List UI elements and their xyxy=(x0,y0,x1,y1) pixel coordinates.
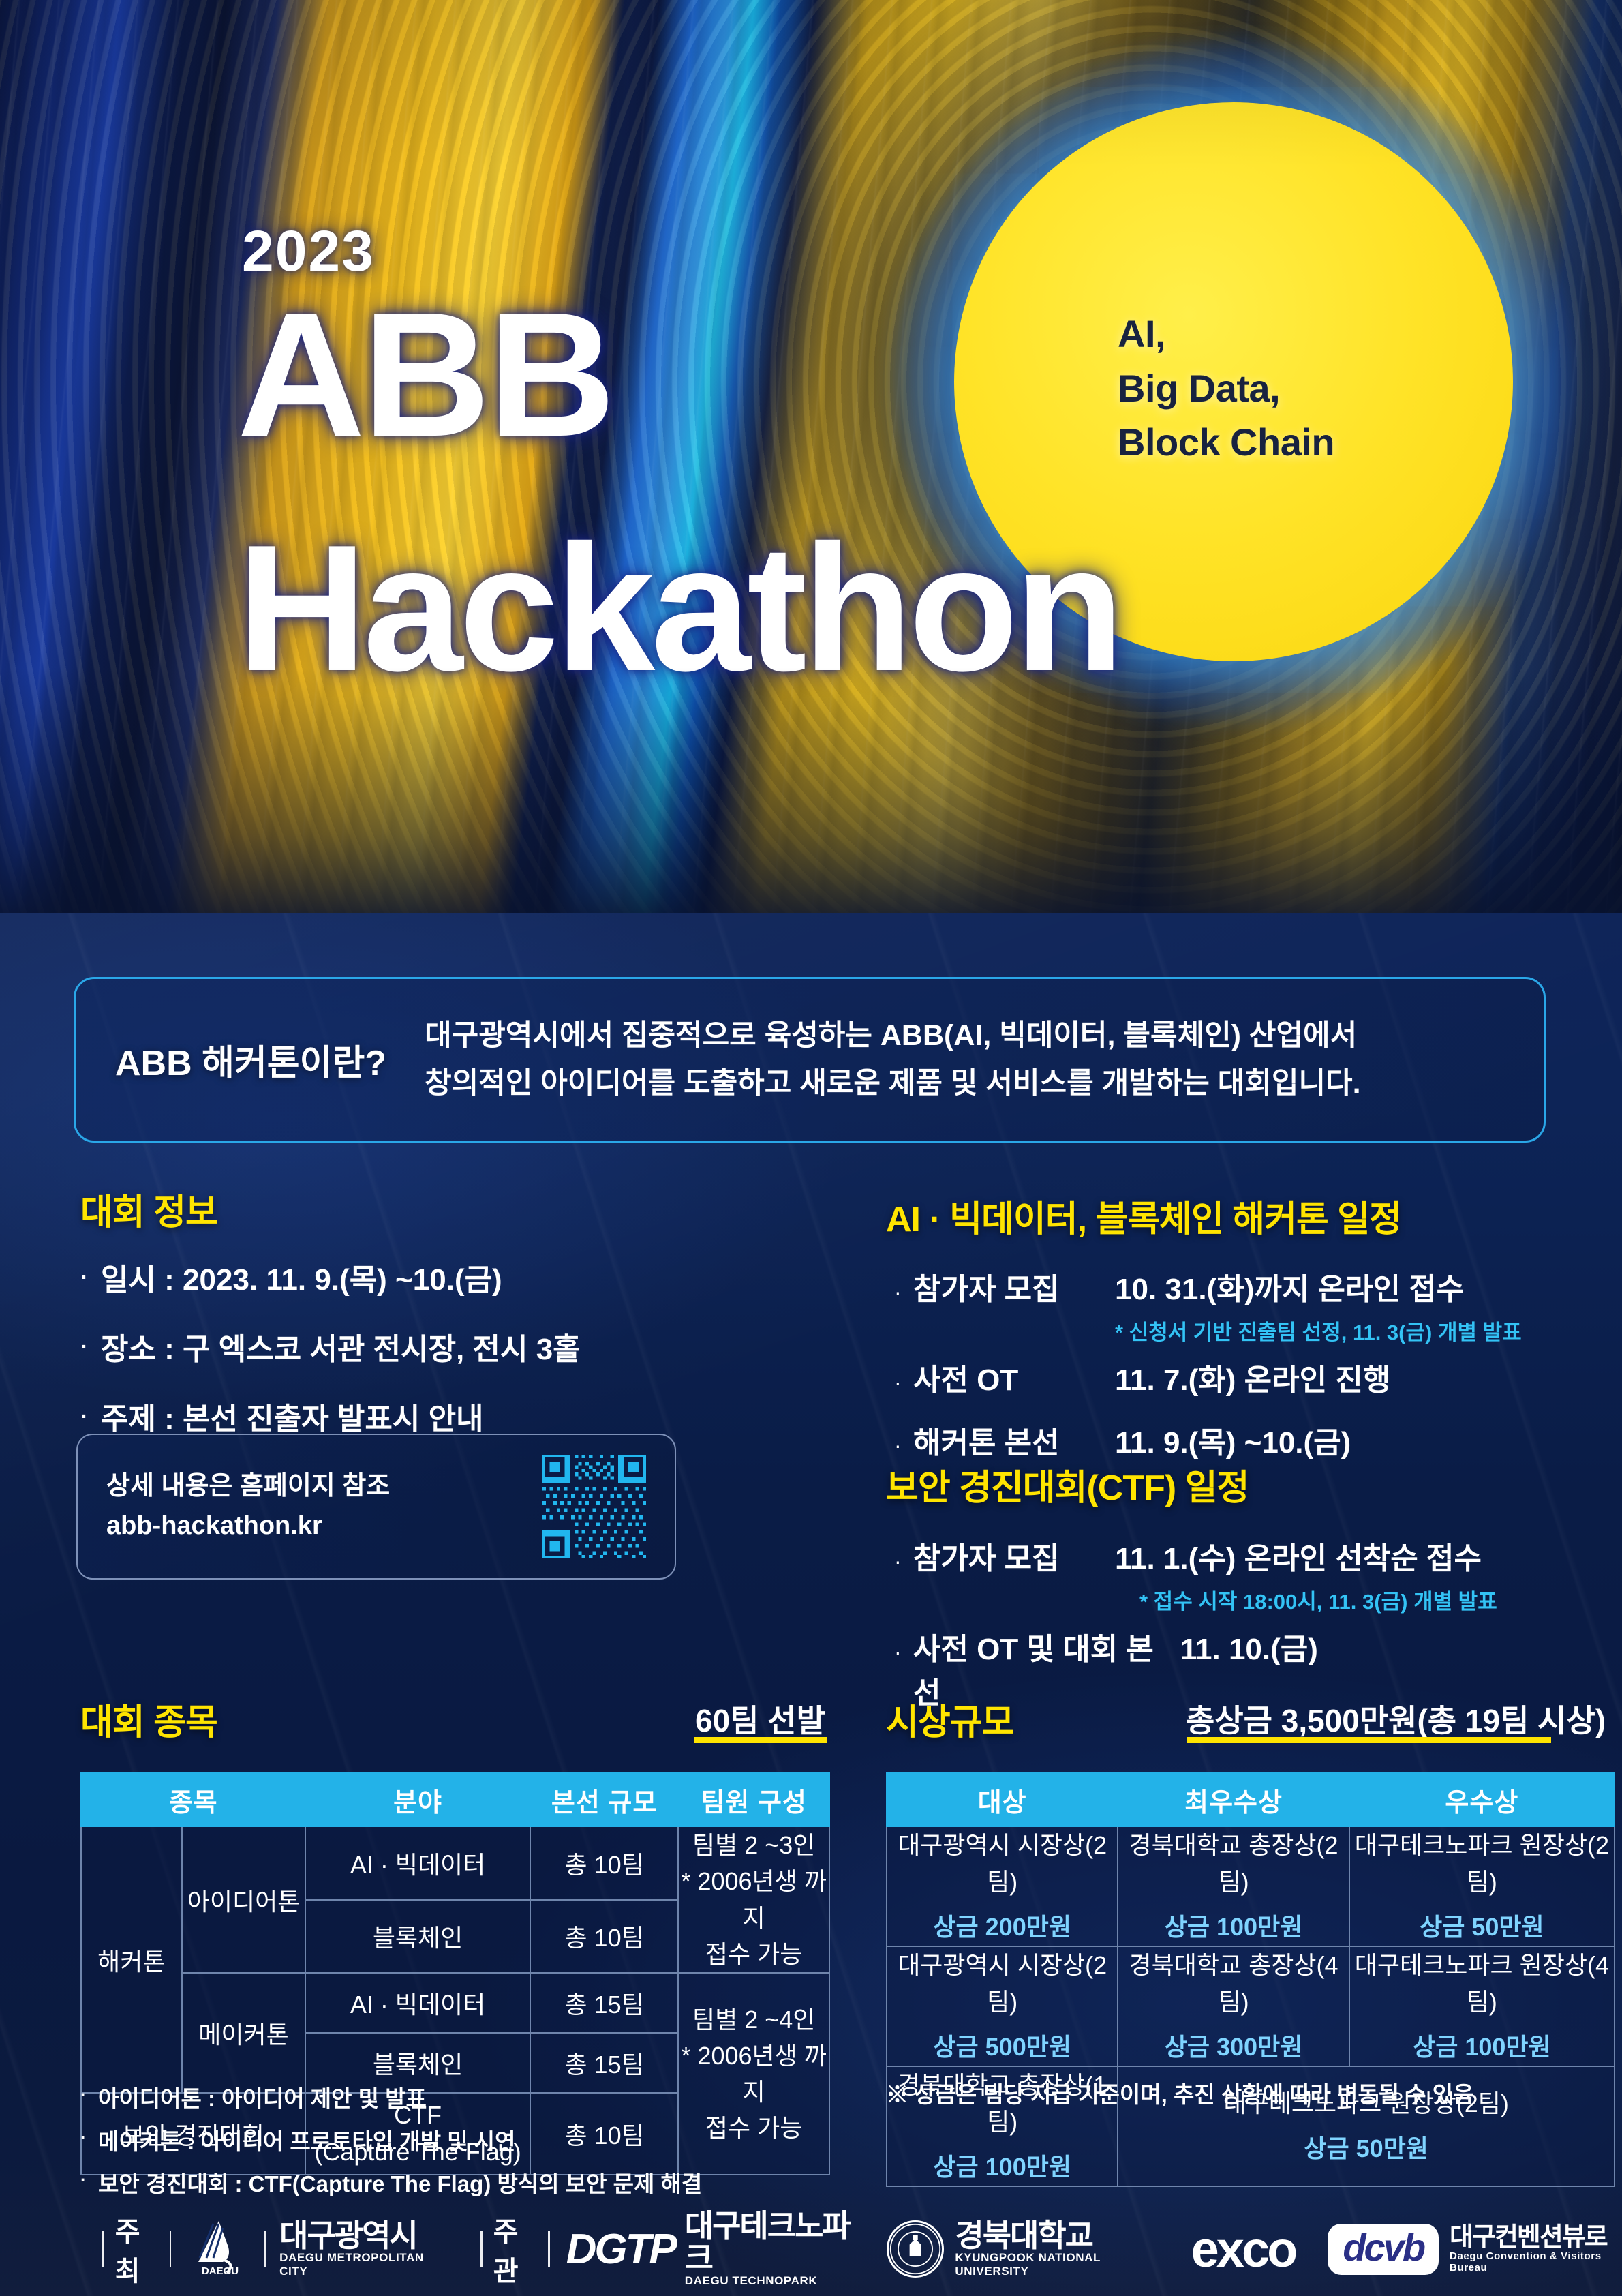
divider xyxy=(548,2231,550,2267)
awards-th-best: 최우수상 xyxy=(1118,1773,1349,1826)
events-cell-scale-3: 총 15팀 xyxy=(530,1973,679,2033)
bullet-dot-icon: · xyxy=(894,1433,913,1458)
bullet-dot-icon: · xyxy=(894,1370,913,1395)
schedule-label-recruit: 참가자 모집 xyxy=(913,1265,1115,1308)
table-header-row: 종목 분야 본선 규모 팀원 구성 xyxy=(81,1773,829,1826)
schedule-value-recruit: 10. 31.(화)까지 온라인 접수 xyxy=(1115,1265,1464,1308)
daegu-city-logo: 대구광역시 DAEGU METROPOLITAN CITY xyxy=(279,2220,437,2279)
table-row: 대구광역시 시장상(2팀) 상금 500만원 경북대학교 총장상(4팀) 상금 … xyxy=(887,1946,1615,2066)
schedule-label-final: 해커톤 본선 xyxy=(913,1418,1115,1462)
list-item: · 메이커톤 : 아이디어 프로토타입 개발 및 시연 xyxy=(80,2121,702,2164)
ctf-value-final: 11. 10.(금) xyxy=(1180,1625,1318,1668)
section-title-events: 대회 종목 xyxy=(80,1693,217,1744)
awards-table: 대상 최우수상 우수상 대구광역시 시장상(2팀) 상금 200만원 경북대학교… xyxy=(886,1772,1615,2187)
footer-organizer-tag: 주관 xyxy=(483,2209,548,2289)
award-prize: 상금 500만원 xyxy=(887,2029,1117,2066)
events-th-category: 종목 xyxy=(81,1773,305,1826)
awards-cell-r2c2: 경북대학교 총장상(4팀) 상금 300만원 xyxy=(1118,1946,1349,2066)
knu-logo: 경북대학교 KYUNGPOOK NATIONAL UNIVERSITY xyxy=(955,2220,1154,2279)
events-cell-sub-ideathon: 아이디어톤 xyxy=(182,1826,306,1973)
events-cell-field-ai-1: AI · 빅데이터 xyxy=(305,1826,530,1900)
bullet-dot-icon: · xyxy=(80,1327,101,1368)
dgtp-logo-mark: DGTP xyxy=(566,2225,675,2274)
awards-cell-r2c1: 대구광역시 시장상(2팀) 상금 500만원 xyxy=(887,1946,1118,2066)
ctf-value-recruit: 11. 1.(수) 온라인 선착순 접수 xyxy=(1115,1534,1482,1577)
list-item: · 일시 : 2023. 11. 9.(목) ~10.(금) xyxy=(80,1258,796,1303)
awards-note: ※ 상금은 팀당 지급 기준이며, 추진 상황에 따라 변동될 수 있음 xyxy=(886,2076,1474,2109)
events-th-team: 팀원 구성 xyxy=(678,1773,829,1826)
section-title-ctf-schedule: 보안 경진대회(CTF) 일정 xyxy=(886,1459,1249,1510)
svg-text:DAEGU: DAEGU xyxy=(202,2265,239,2277)
ctf-note-recruit: * 접수 시작 18:00시, 11. 3(금) 개별 발표 xyxy=(1139,1584,1610,1615)
intro-title: ABB 해커톤이란? xyxy=(115,1034,386,1085)
events-badge: 60팀 선발 xyxy=(695,1696,825,1741)
award-prize: 상금 50만원 xyxy=(1350,1909,1614,1946)
events-th-scale: 본선 규모 xyxy=(530,1773,679,1826)
schedule-row: · 해커톤 본선 11. 9.(목) ~10.(금) xyxy=(894,1418,1610,1462)
awards-th-grand: 대상 xyxy=(887,1773,1118,1826)
table-header-row: 대상 최우수상 우수상 xyxy=(887,1773,1615,1826)
team-a-line3: 접수 가능 xyxy=(679,1936,829,1972)
divider xyxy=(480,2231,483,2267)
dcvb-logo-mark: dcvb xyxy=(1328,2224,1439,2275)
dcvb-name-en: Daegu Convention & Visitors Bureau xyxy=(1450,2250,1622,2274)
schedule-value-final: 11. 9.(목) ~10.(금) xyxy=(1115,1418,1351,1462)
section-title-info: 대회 정보 xyxy=(80,1183,217,1235)
intro-desc-line1: 대구광역시에서 집중적으로 육성하는 ABB(AI, 빅데이터, 블록체인) 산… xyxy=(425,1012,1360,1060)
team-b-line1: 팀별 2 ~4인 xyxy=(679,2002,829,2038)
divider xyxy=(264,2231,266,2267)
ctf-label-recruit: 참가자 모집 xyxy=(913,1534,1115,1577)
events-cell-field-bc-1: 블록체인 xyxy=(305,1900,530,1974)
table-row: 해커톤 아이디어톤 AI · 빅데이터 총 10팀 팀별 2 ~3인 * 200… xyxy=(81,1826,829,1900)
awards-cell-r1c3: 대구테크노파크 원장상(2팀) 상금 50만원 xyxy=(1349,1826,1615,1946)
homepage-text: 상세 내용은 홈페이지 참조 abb-hackathon.kr xyxy=(106,1467,390,1546)
schedule-note-recruit: * 신청서 기반 진출팀 선정, 11. 3(금) 개별 발표 xyxy=(1115,1315,1610,1346)
award-prize: 상금 100만원 xyxy=(1350,2029,1614,2066)
events-cell-field-ai-2: AI · 빅데이터 xyxy=(305,1973,530,2033)
section-title-awards: 시상규모 xyxy=(886,1693,1013,1744)
dgtp-name-en: DAEGU TECHNOPARK xyxy=(685,2274,857,2288)
knu-name-kr: 경북대학교 xyxy=(955,2220,1154,2252)
exco-logo: exco xyxy=(1191,2220,1296,2278)
events-cell-group-hackathon: 해커톤 xyxy=(81,1826,182,2093)
daegu-city-name-en: DAEGU METROPOLITAN CITY xyxy=(279,2251,437,2278)
homepage-ref-line: 상세 내용은 홈페이지 참조 xyxy=(106,1467,390,1507)
intro-box: ABB 해커톤이란? 대구광역시에서 집중적으로 육성하는 ABB(AI, 빅데… xyxy=(74,977,1546,1143)
awards-cell-r1c2: 경북대학교 총장상(2팀) 상금 100만원 xyxy=(1118,1826,1349,1946)
homepage-qr-box[interactable]: 상세 내용은 홈페이지 참조 abb-hackathon.kr xyxy=(76,1434,676,1580)
award-prize: 상금 100만원 xyxy=(887,2149,1117,2186)
table-row: 메이커톤 AI · 빅데이터 총 15팀 팀별 2 ~4인 * 2006년생 까… xyxy=(81,1973,829,2033)
info-item-date: 일시 : 2023. 11. 9.(목) ~10.(금) xyxy=(101,1258,502,1303)
bullet-dot-icon: · xyxy=(80,1397,101,1438)
bullet-dot-icon: · xyxy=(894,1549,913,1574)
list-item: · 보안 경진대회 : CTF(Capture The Flag) 방식의 보안… xyxy=(80,2163,702,2206)
awards-cell-r2c3: 대구테크노파크 원장상(4팀) 상금 100만원 xyxy=(1349,1946,1615,2066)
events-cell-scale-2: 총 10팀 xyxy=(530,1900,679,1974)
awards-badge-underline xyxy=(1187,1737,1551,1743)
award-prize: 상금 100만원 xyxy=(1118,1909,1348,1946)
daegu-city-mark-icon: DAEGU xyxy=(189,2220,251,2278)
awards-th-excellent: 우수상 xyxy=(1349,1773,1615,1826)
list-item: · 장소 : 구 엑스코 서관 전시장, 전시 3홀 xyxy=(80,1327,796,1372)
events-cell-scale-1: 총 10팀 xyxy=(530,1826,679,1900)
award-title: 경북대학교 총장상(2팀) xyxy=(1118,1827,1348,1901)
events-cell-team-a: 팀별 2 ~3인 * 2006년생 까지 접수 가능 xyxy=(678,1826,829,1973)
bullet-dot-icon: · xyxy=(894,1280,913,1305)
footer-host-tag: 주최 xyxy=(104,2209,170,2289)
award-prize: 상금 200만원 xyxy=(887,1909,1117,1946)
definition-security: 보안 경진대회 : CTF(Capture The Flag) 방식의 보안 문… xyxy=(98,2163,702,2206)
award-title: 경북대학교 총장상(4팀) xyxy=(1118,1947,1348,2021)
schedule-row: · 참가자 모집 11. 1.(수) 온라인 선착순 접수 xyxy=(894,1534,1610,1577)
awards-cell-r1c1: 대구광역시 시장상(2팀) 상금 200만원 xyxy=(887,1826,1118,1946)
hero-banner: AI, Big Data, Block Chain 2023 ABB Hacka… xyxy=(0,0,1622,927)
ctf-schedule-list: · 참가자 모집 11. 1.(수) 온라인 선착순 접수 * 접수 시작 18… xyxy=(894,1534,1610,1719)
qr-code-icon[interactable] xyxy=(542,1455,646,1558)
knu-name-en: KYUNGPOOK NATIONAL UNIVERSITY xyxy=(955,2251,1154,2278)
knu-seal-icon xyxy=(887,2220,944,2278)
events-badge-underline xyxy=(694,1737,827,1743)
table-row: 대구광역시 시장상(2팀) 상금 200만원 경북대학교 총장상(2팀) 상금 … xyxy=(887,1826,1615,1946)
bullet-dot-icon: · xyxy=(80,2163,98,2206)
hackathon-schedule-list: · 참가자 모집 10. 31.(화)까지 온라인 접수 * 신청서 기반 진출… xyxy=(894,1265,1610,1468)
bullet-dot-icon: · xyxy=(80,2078,98,2121)
bullet-dot-icon: · xyxy=(894,1640,913,1665)
schedule-row: · 사전 OT 11. 7.(화) 온라인 진행 xyxy=(894,1355,1610,1399)
definition-ideathon: 아이디어톤 : 아이디어 제안 및 발표 xyxy=(98,2078,427,2121)
event-definitions: · 아이디어톤 : 아이디어 제안 및 발표 · 메이커톤 : 아이디어 프로토… xyxy=(80,2078,702,2206)
award-title: 대구광역시 시장상(2팀) xyxy=(887,1947,1117,2021)
info-item-place: 장소 : 구 엑스코 서관 전시장, 전시 3홀 xyxy=(101,1327,581,1372)
dcvb-name-kr: 대구컨벤션뷰로 xyxy=(1450,2224,1622,2251)
award-title: 대구광역시 시장상(2팀) xyxy=(887,1827,1117,1901)
events-th-field: 분야 xyxy=(305,1773,530,1826)
hero-vignette xyxy=(0,0,1622,927)
definition-makerthon: 메이커톤 : 아이디어 프로토타입 개발 및 시연 xyxy=(98,2121,515,2164)
events-cell-sub-makerthon: 메이커톤 xyxy=(182,1973,306,2093)
daegu-city-name-kr: 대구광역시 xyxy=(279,2220,437,2252)
awards-badge: 총상금 3,500만원(총 19팀 시상) xyxy=(1186,1696,1606,1741)
award-prize: 상금 50만원 xyxy=(1118,2130,1614,2167)
intro-description: 대구광역시에서 집중적으로 육성하는 ABB(AI, 빅데이터, 블록체인) 산… xyxy=(425,1012,1360,1107)
dgtp-name-kr: 대구테크노파크 xyxy=(685,2210,857,2274)
list-item: · 아이디어톤 : 아이디어 제안 및 발표 xyxy=(80,2078,702,2121)
schedule-label-ot: 사전 OT xyxy=(913,1355,1115,1399)
divider xyxy=(170,2231,172,2267)
divider xyxy=(102,2231,104,2267)
bullet-dot-icon: · xyxy=(80,2121,98,2164)
team-a-line2: * 2006년생 까지 xyxy=(679,1863,829,1936)
schedule-row: · 참가자 모집 10. 31.(화)까지 온라인 접수 xyxy=(894,1265,1610,1308)
award-title: 대구테크노파크 원장상(2팀) xyxy=(1350,1827,1614,1901)
section-title-hackathon-schedule: AI · 빅데이터, 블록체인 해커톤 일정 xyxy=(886,1190,1401,1241)
intro-desc-line2: 창의적인 아이디어를 도출하고 새로운 제품 및 서비스를 개발하는 대회입니다… xyxy=(425,1060,1360,1108)
bullet-dot-icon: · xyxy=(80,1258,101,1299)
dcvb-logo: 대구컨벤션뷰로 Daegu Convention & Visitors Bure… xyxy=(1450,2224,1622,2274)
team-a-line1: 팀별 2 ~3인 xyxy=(679,1827,829,1863)
dgtp-logo: 대구테크노파크 DAEGU TECHNOPARK xyxy=(685,2210,857,2288)
award-title: 대구테크노파크 원장상(4팀) xyxy=(1350,1947,1614,2021)
award-prize: 상금 300만원 xyxy=(1118,2029,1348,2066)
homepage-url: abb-hackathon.kr xyxy=(106,1507,390,1546)
schedule-value-ot: 11. 7.(화) 온라인 진행 xyxy=(1115,1355,1390,1399)
footer-logos: 주최 DAEGU 대구광역시 DAEGU METROPOLITAN CITY 주… xyxy=(0,2202,1622,2296)
